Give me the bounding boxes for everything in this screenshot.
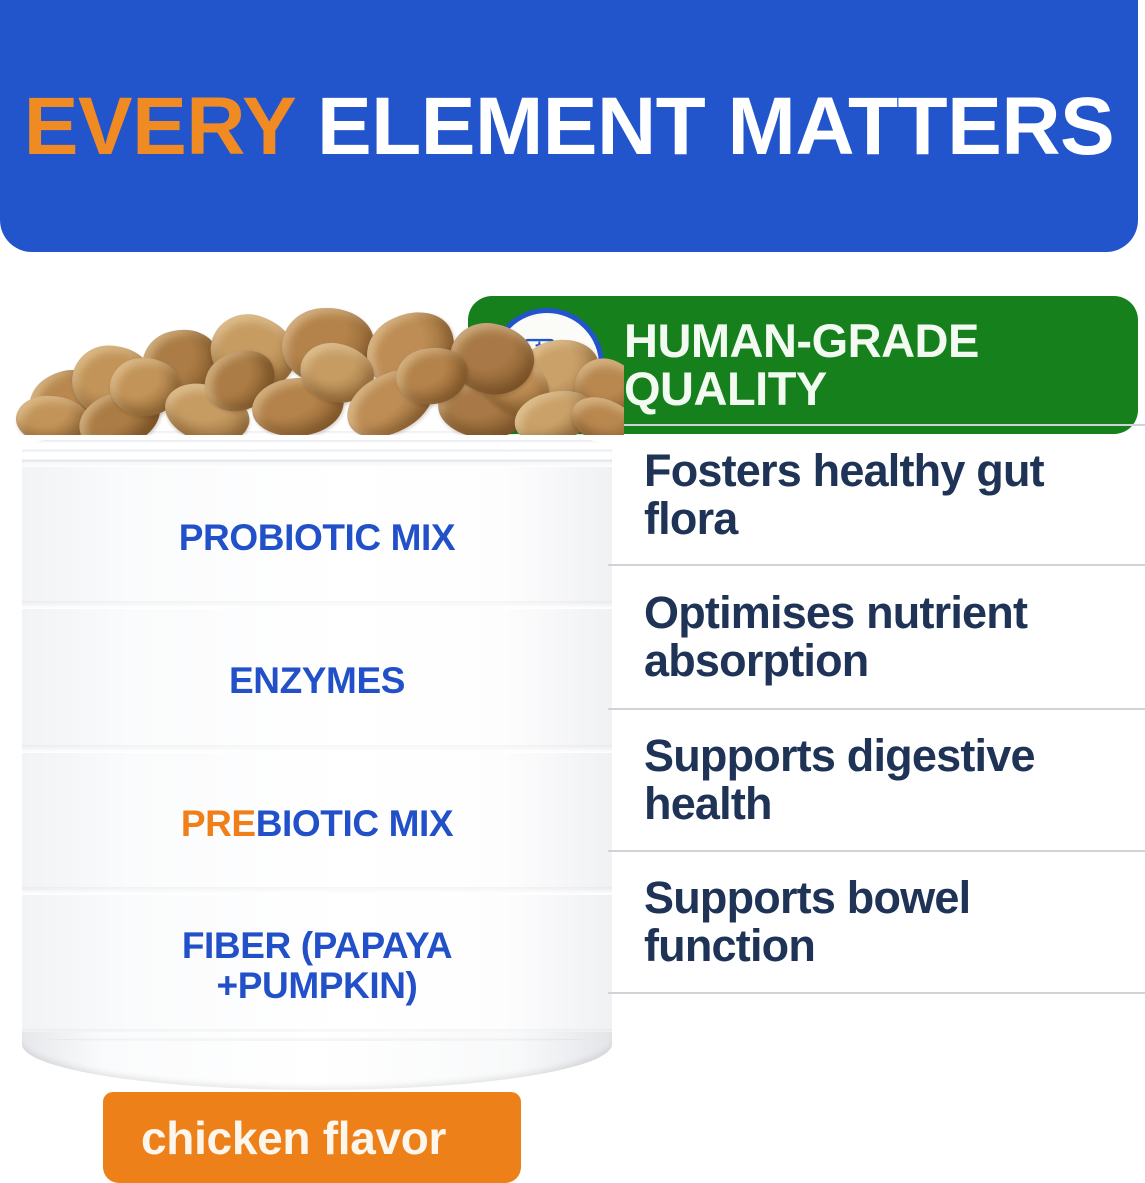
benefit-row: Fosters healthy gut flora (608, 424, 1145, 566)
ingredient-name: PREBIOTIC MIX (163, 804, 471, 843)
header-banner: EVERY ELEMENT MATTERS (0, 0, 1138, 252)
jar-panel-1: PROBIOTIC MIX (22, 466, 612, 608)
benefit-row: Optimises nutrient absorption (608, 566, 1145, 710)
ingredient-name-main: FIBER (PAPAYA +PUMPKIN) (182, 925, 452, 1005)
benefit-text: Supports bowel function (644, 874, 1114, 970)
header-title-rest: ELEMENT MATTERS (295, 81, 1115, 172)
jar-panel-3: PREBIOTIC MIX (22, 752, 612, 894)
ingredient-name-main: BIOTIC MIX (256, 803, 453, 844)
header-title: EVERY ELEMENT MATTERS (24, 83, 1115, 165)
product-jar: PROBIOTIC MIXENZYMESPREBIOTIC MIXFIBER (… (22, 424, 612, 1076)
benefit-text: Supports digestive health (644, 732, 1114, 828)
header-title-accent: EVERY (24, 81, 295, 172)
infographic-page: EVERY ELEMENT MATTERS PROBIOTIC MIXENZYM… (0, 0, 1145, 1183)
jar-base (22, 1032, 612, 1090)
ingredient-name-prefix: PRE (181, 803, 256, 844)
ingredient-name-main: ENZYMES (229, 660, 405, 701)
jar-panel-2: ENZYMES (22, 608, 612, 752)
ingredient-name: ENZYMES (211, 661, 423, 700)
jar-panel-4: FIBER (PAPAYA +PUMPKIN) (22, 894, 612, 1036)
ingredient-name-main: PROBIOTIC MIX (179, 517, 455, 558)
jar-label-panels: PROBIOTIC MIXENZYMESPREBIOTIC MIXFIBER (… (22, 466, 612, 1036)
benefit-row: Supports digestive health (608, 710, 1145, 852)
flavor-tag: chicken flavor (103, 1092, 521, 1183)
benefit-list: Fosters healthy gut floraOptimises nutri… (608, 424, 1145, 1076)
benefit-row: Supports bowel function (608, 852, 1145, 994)
benefit-text: Optimises nutrient absorption (644, 589, 1114, 685)
ingredient-name: FIBER (PAPAYA +PUMPKIN) (147, 926, 487, 1004)
flavor-tag-label: chicken flavor (141, 1111, 446, 1165)
ingredient-name: PROBIOTIC MIX (161, 518, 473, 557)
badge-label: HUMAN-GRADE QUALITY (624, 317, 1138, 413)
benefit-text: Fosters healthy gut flora (644, 447, 1114, 543)
